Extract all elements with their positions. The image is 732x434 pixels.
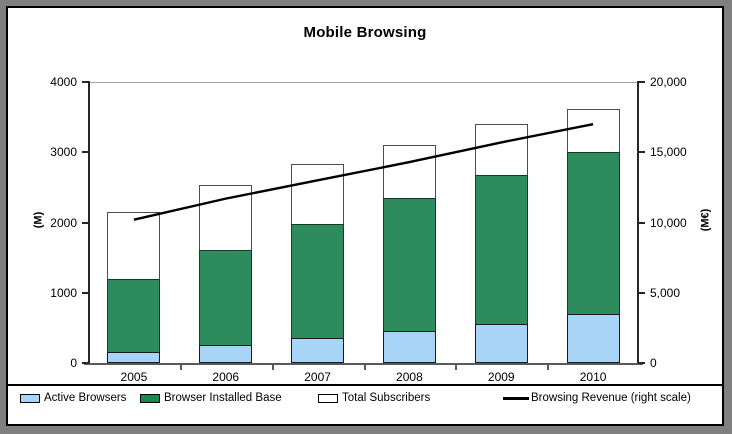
bar-segment-active-browsers[interactable] (567, 314, 620, 363)
bar-group[interactable] (475, 82, 528, 363)
legend-label: Browser Installed Base (164, 392, 282, 404)
bar-segment-active-browsers[interactable] (107, 352, 160, 363)
revenue-line-series (88, 82, 639, 363)
left-axis-title: (M) (32, 212, 44, 229)
legend-item[interactable]: Total Subscribers (318, 392, 430, 404)
right-axis-title: (M€) (699, 209, 711, 232)
left-tick-mark (82, 81, 89, 83)
chart-frame: Mobile Browsing (M) (M€) 010002000300040… (6, 6, 724, 426)
right-tick-label: 20,000 (650, 75, 687, 89)
right-tick-label: 10,000 (650, 216, 687, 230)
left-tick-label: 4000 (50, 75, 77, 89)
x-tick-label: 2006 (212, 370, 239, 384)
legend-color-swatch (318, 394, 338, 403)
x-tick-label: 2005 (121, 370, 148, 384)
legend-item[interactable]: Active Browsers (20, 392, 126, 404)
legend-label: Total Subscribers (342, 392, 430, 404)
x-tick-mark (364, 363, 366, 370)
left-tick-label: 1000 (50, 286, 77, 300)
plot-top-gridline (88, 82, 639, 83)
left-tick-mark (82, 362, 89, 364)
left-tick-label: 0 (70, 356, 77, 370)
bar-segment-active-browsers[interactable] (199, 345, 252, 363)
bar-group[interactable] (291, 82, 344, 363)
left-tick-mark (82, 292, 89, 294)
bar-group[interactable] (107, 82, 160, 363)
legend-color-swatch (140, 394, 160, 403)
right-tick-mark (638, 362, 645, 364)
legend-line-marker (503, 397, 529, 400)
legend-label: Browsing Revenue (right scale) (531, 392, 691, 404)
right-tick-label: 5,000 (650, 286, 680, 300)
bar-segment-active-browsers[interactable] (291, 338, 344, 363)
chart-legend: Active BrowsersBrowser Installed BaseTot… (8, 384, 722, 424)
left-tick-mark (82, 151, 89, 153)
legend-item[interactable]: Browsing Revenue (right scale) (503, 392, 691, 404)
x-tick-label: 2008 (396, 370, 423, 384)
right-tick-mark (638, 222, 645, 224)
right-tick-label: 15,000 (650, 145, 687, 159)
legend-label: Active Browsers (44, 392, 126, 404)
plot-area: 01000200030004000 05,00010,00015,00020,0… (88, 82, 639, 363)
left-tick-label: 2000 (50, 216, 77, 230)
left-tick-mark (82, 222, 89, 224)
x-tick-mark (180, 363, 182, 370)
legend-color-swatch (20, 394, 40, 403)
x-tick-mark (455, 363, 457, 370)
x-tick-label: 2010 (580, 370, 607, 384)
left-tick-label: 3000 (50, 145, 77, 159)
x-tick-label: 2007 (304, 370, 331, 384)
bar-segment-active-browsers[interactable] (383, 331, 436, 363)
x-tick-mark (547, 363, 549, 370)
bar-group[interactable] (199, 82, 252, 363)
x-tick-mark (272, 363, 274, 370)
bar-group[interactable] (383, 82, 436, 363)
right-tick-mark (638, 292, 645, 294)
chart-title: Mobile Browsing (8, 24, 722, 41)
bar-segment-active-browsers[interactable] (475, 324, 528, 363)
right-tick-mark (638, 151, 645, 153)
right-tick-mark (638, 81, 645, 83)
x-tick-label: 2009 (488, 370, 515, 384)
legend-item[interactable]: Browser Installed Base (140, 392, 282, 404)
bar-segment-browser-installed-base[interactable] (107, 279, 160, 363)
bar-group[interactable] (567, 82, 620, 363)
right-tick-label: 0 (650, 356, 657, 370)
